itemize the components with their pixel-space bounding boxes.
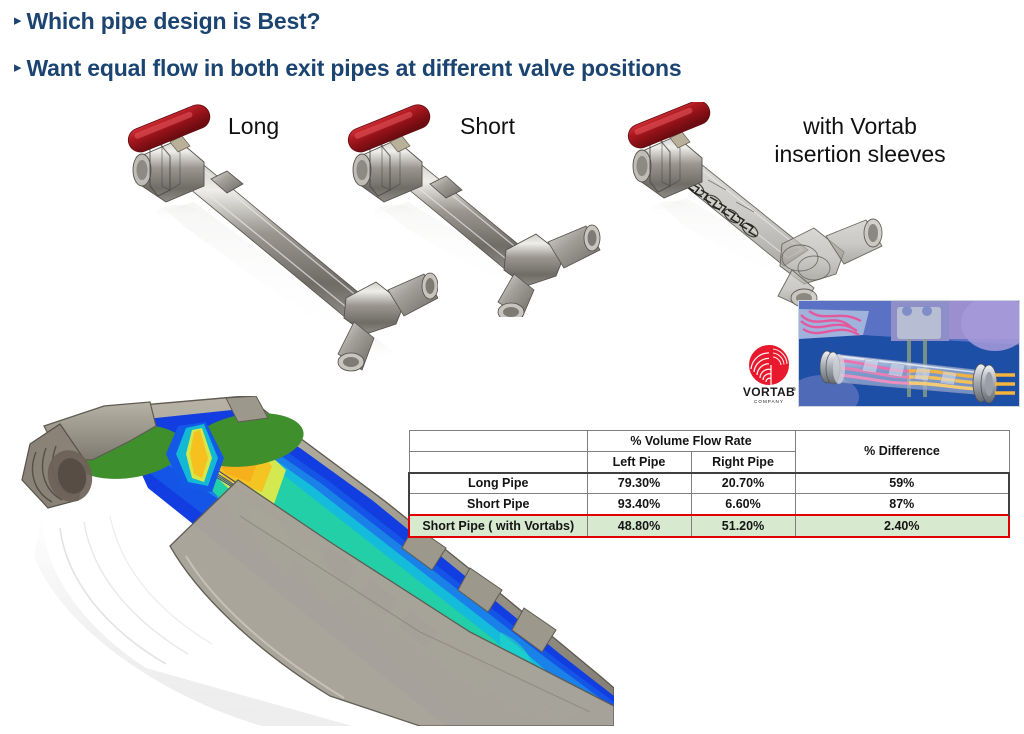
- label-vortab: with Vortab insertion sleeves: [760, 112, 960, 168]
- header-volume-flow-rate: % Volume Flow Rate: [587, 431, 795, 452]
- cell-vortabs-difference: 2.40%: [795, 515, 1009, 537]
- label-short: Short: [460, 112, 515, 140]
- cell-short-pipe-difference: 87%: [795, 494, 1009, 515]
- cell-short-pipe-right: 6.60%: [691, 494, 795, 515]
- label-vortab-line2: insertion sleeves: [760, 140, 960, 168]
- slide-canvas: ▸ Which pipe design is Best? ▸ Want equa…: [0, 0, 1024, 734]
- cell-long-pipe-difference: 59%: [795, 473, 1009, 494]
- flow-results-table: % Volume Flow Rate % Difference Left Pip…: [408, 430, 1010, 538]
- header-left-pipe: Left Pipe: [587, 452, 691, 473]
- vortab-logo: VORTAB ® COMPANY: [738, 343, 800, 407]
- heading-bullet-2: ▸ Want equal flow in both exit pipes at …: [14, 55, 681, 82]
- vortab-spiral-mark: [749, 345, 789, 385]
- cell-long-pipe-right: 20.70%: [691, 473, 795, 494]
- cell-vortabs-left: 48.80%: [587, 515, 691, 537]
- bullet-triangle-icon: ▸: [14, 60, 22, 75]
- cell-long-pipe-left: 79.30%: [587, 473, 691, 494]
- table-row: Long Pipe 79.30% 20.70% 59%: [409, 473, 1009, 494]
- table-header-row-1: % Volume Flow Rate % Difference: [409, 431, 1009, 452]
- vortab-logo-subtext: COMPANY: [754, 399, 784, 404]
- header-blank-cell-2: [409, 452, 587, 473]
- heading-bullet-1: ▸ Which pipe design is Best?: [14, 8, 320, 35]
- header-percent-difference: % Difference: [795, 431, 1009, 473]
- header-right-pipe: Right Pipe: [691, 452, 795, 473]
- bullet-triangle-icon: ▸: [14, 13, 22, 28]
- results-table: % Volume Flow Rate % Difference Left Pip…: [408, 430, 1008, 538]
- flow-conditioner-inset-image: [798, 300, 1020, 407]
- row-label-long-pipe: Long Pipe: [409, 473, 587, 494]
- row-label-short-pipe-vortabs: Short Pipe ( with Vortabs): [409, 515, 587, 537]
- table-row: Short Pipe 93.40% 6.60% 87%: [409, 494, 1009, 515]
- header-blank-cell: [409, 431, 587, 452]
- vortab-logo-wordmark: VORTAB: [743, 385, 795, 399]
- label-vortab-line1: with Vortab: [760, 112, 960, 140]
- cell-vortabs-right: 51.20%: [691, 515, 795, 537]
- label-long: Long: [228, 112, 279, 140]
- heading-2-text: Want equal flow in both exit pipes at di…: [27, 55, 682, 82]
- table-row-highlighted: Short Pipe ( with Vortabs) 48.80% 51.20%…: [409, 515, 1009, 537]
- vortab-registered-icon: ®: [792, 386, 796, 393]
- heading-1-text: Which pipe design is Best?: [27, 8, 321, 35]
- cell-short-pipe-left: 93.40%: [587, 494, 691, 515]
- row-label-short-pipe: Short Pipe: [409, 494, 587, 515]
